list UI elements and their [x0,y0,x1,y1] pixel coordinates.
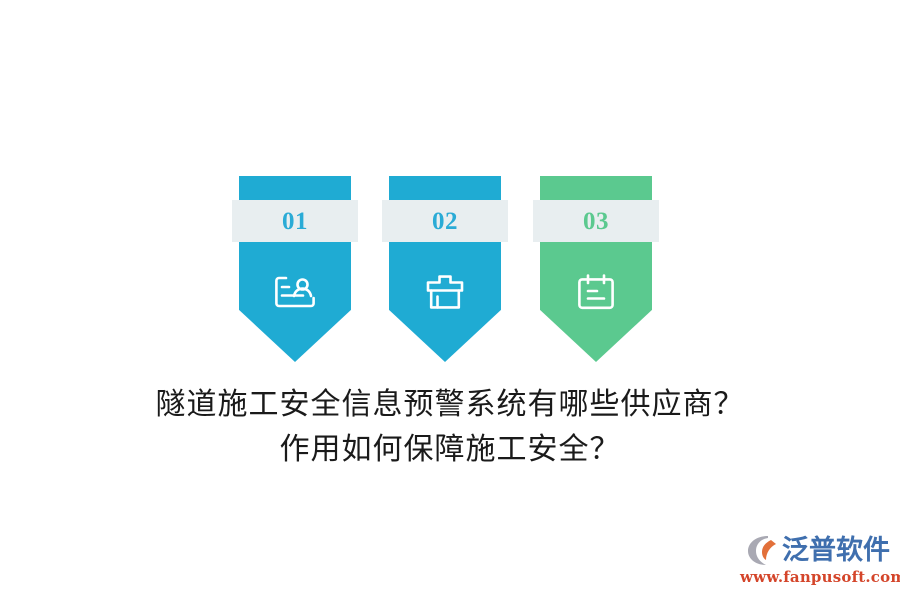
logo-url-text: www.fanpusoft.com [740,570,890,585]
banner-number-band: 02 [382,200,508,242]
storefront-icon [389,264,501,320]
logo-brand-text: 泛普软件 [782,537,890,564]
banner-number: 02 [432,209,458,234]
headline-line-2: 作用如何保障施工安全？ [0,427,900,472]
banner-number-band: 01 [232,200,358,242]
logo-top-row: 泛普软件 [740,532,890,568]
banner-item-01[interactable]: 01 [239,176,351,362]
banner-number: 01 [282,209,308,234]
headline-line-1: 隧道施工安全信息预警系统有哪些供应商？ [0,382,900,427]
calendar-note-icon [540,264,652,320]
id-card-person-icon [239,264,351,320]
banner-number: 03 [583,209,609,234]
page-title: 隧道施工安全信息预警系统有哪些供应商？ 作用如何保障施工安全？ [0,382,900,472]
poster-canvas: 01 02 [0,0,900,600]
brand-logo: 泛普软件 www.fanpusoft.com [740,532,890,590]
banner-number-band: 03 [533,200,659,242]
banner-item-02[interactable]: 02 [389,176,501,362]
fanpu-logo-mark-icon [746,534,780,566]
banner-item-03[interactable]: 03 [540,176,652,362]
banner-group: 01 02 [0,176,900,376]
